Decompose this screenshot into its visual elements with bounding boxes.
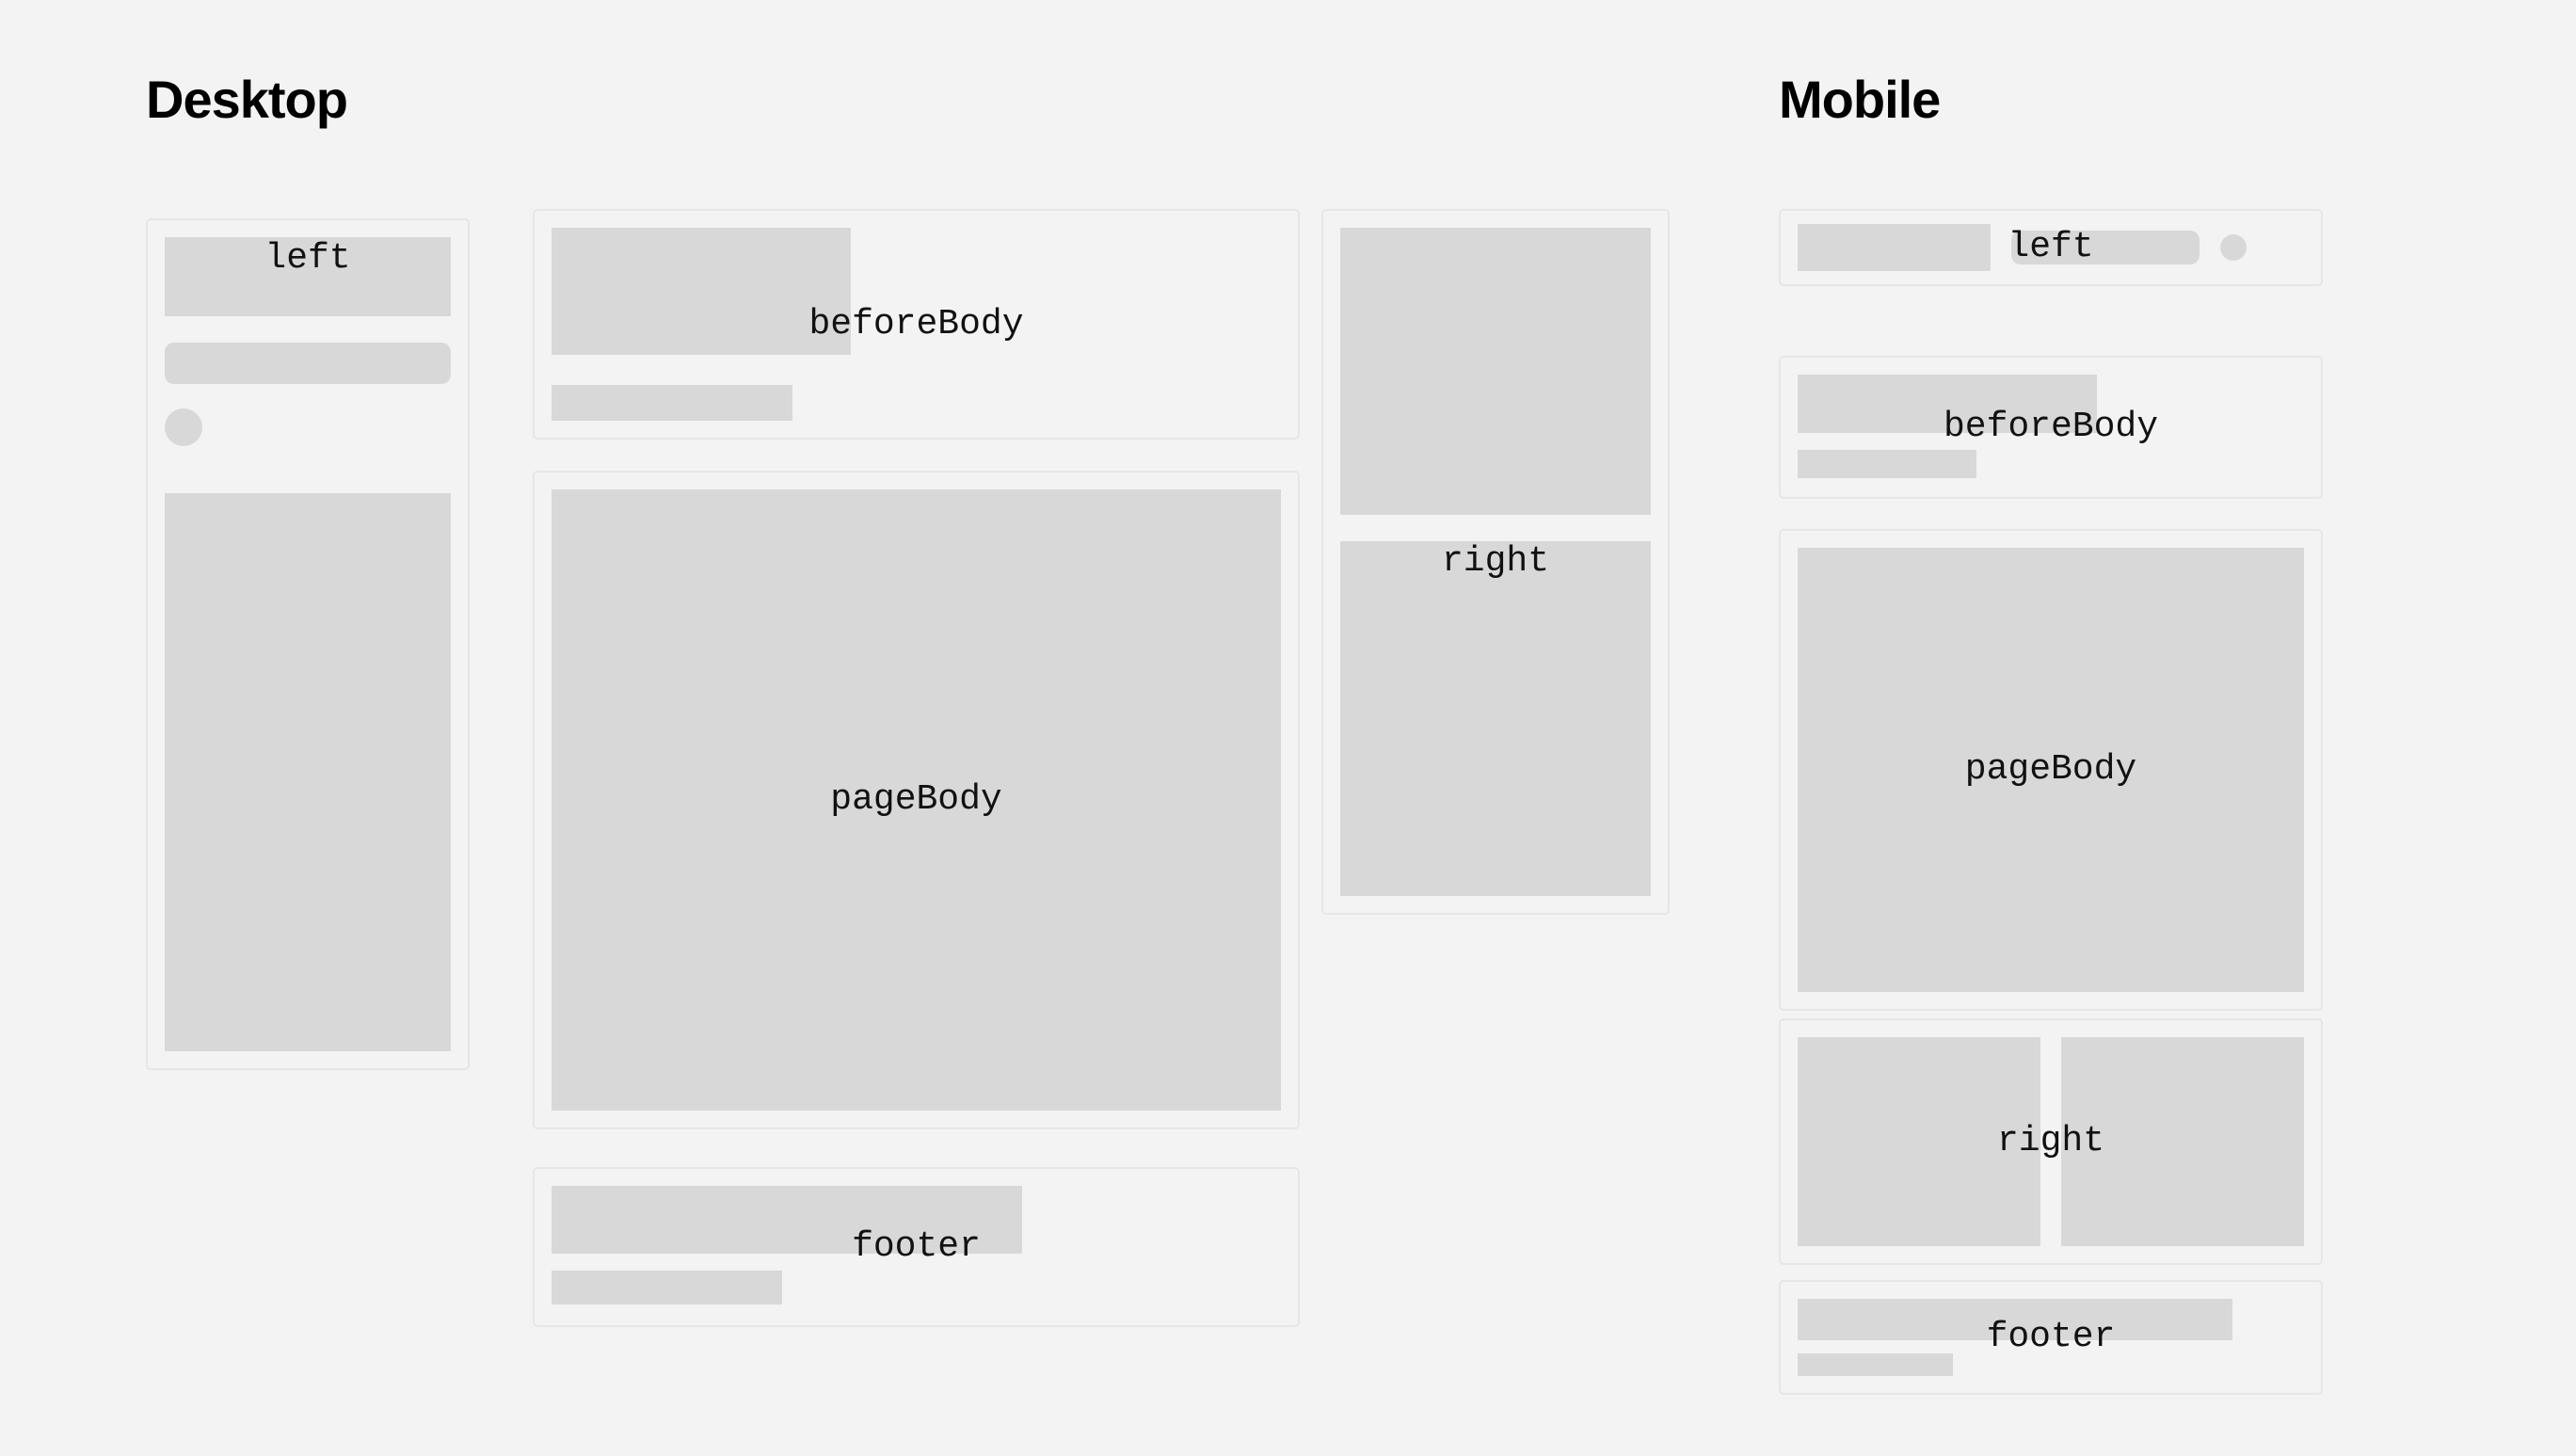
skeleton-panel	[1340, 541, 1651, 896]
desktop-left-skeleton-stack	[165, 237, 451, 1051]
mobile-slot-pagebody[interactable]: pageBody	[1779, 529, 2323, 1011]
skeleton-bar	[2011, 231, 2200, 264]
skeleton-panel	[552, 489, 1281, 1111]
skeleton-panel	[165, 493, 451, 1051]
desktop-beforebody-skeleton-stack	[552, 228, 1281, 421]
skeleton-bar	[552, 1271, 782, 1304]
mobile-pagebody-skeleton-stack	[1798, 548, 2304, 992]
skeleton-bar	[165, 343, 451, 384]
desktop-slot-footer[interactable]: footer	[533, 1167, 1300, 1327]
skeleton-bar	[1798, 1353, 1953, 1376]
desktop-slot-left[interactable]: left	[146, 218, 470, 1070]
skeleton-bar	[1798, 450, 1976, 478]
skeleton-block	[1798, 224, 1991, 271]
mobile-right-skeleton-row	[1798, 1037, 2304, 1246]
desktop-slot-right[interactable]: right	[1321, 209, 1670, 915]
skeleton-block	[165, 237, 451, 316]
desktop-section-title: Desktop	[146, 73, 347, 126]
skeleton-block	[1798, 375, 2097, 433]
desktop-slot-pagebody[interactable]: pageBody	[533, 471, 1300, 1129]
skeleton-block	[552, 1186, 1022, 1254]
skeleton-avatar-circle	[165, 408, 202, 446]
desktop-slot-beforebody[interactable]: beforeBody	[533, 209, 1300, 440]
mobile-slot-footer[interactable]: footer	[1779, 1280, 2323, 1395]
desktop-pagebody-skeleton-stack	[552, 489, 1281, 1111]
desktop-right-skeleton-stack	[1340, 228, 1651, 896]
skeleton-panel	[2061, 1037, 2304, 1246]
mobile-left-skeleton-row	[1798, 224, 2304, 271]
skeleton-block	[1798, 1299, 2232, 1340]
skeleton-panel	[1798, 1037, 2040, 1246]
skeleton-block	[552, 228, 851, 355]
desktop-footer-skeleton-stack	[552, 1186, 1281, 1308]
layout-preview-canvas: Desktop left beforeBody pageBody footer	[0, 0, 2576, 1456]
skeleton-panel	[1798, 548, 2304, 992]
mobile-beforebody-skeleton-stack	[1798, 375, 2304, 480]
skeleton-avatar-circle	[2220, 234, 2247, 261]
mobile-slot-right[interactable]: right	[1779, 1018, 2323, 1265]
mobile-footer-skeleton-stack	[1798, 1299, 2304, 1376]
skeleton-panel	[1340, 228, 1651, 515]
mobile-slot-beforebody[interactable]: beforeBody	[1779, 356, 2323, 499]
mobile-slot-left[interactable]: left	[1779, 209, 2323, 286]
mobile-section-title: Mobile	[1779, 73, 1940, 126]
skeleton-bar	[552, 385, 792, 421]
